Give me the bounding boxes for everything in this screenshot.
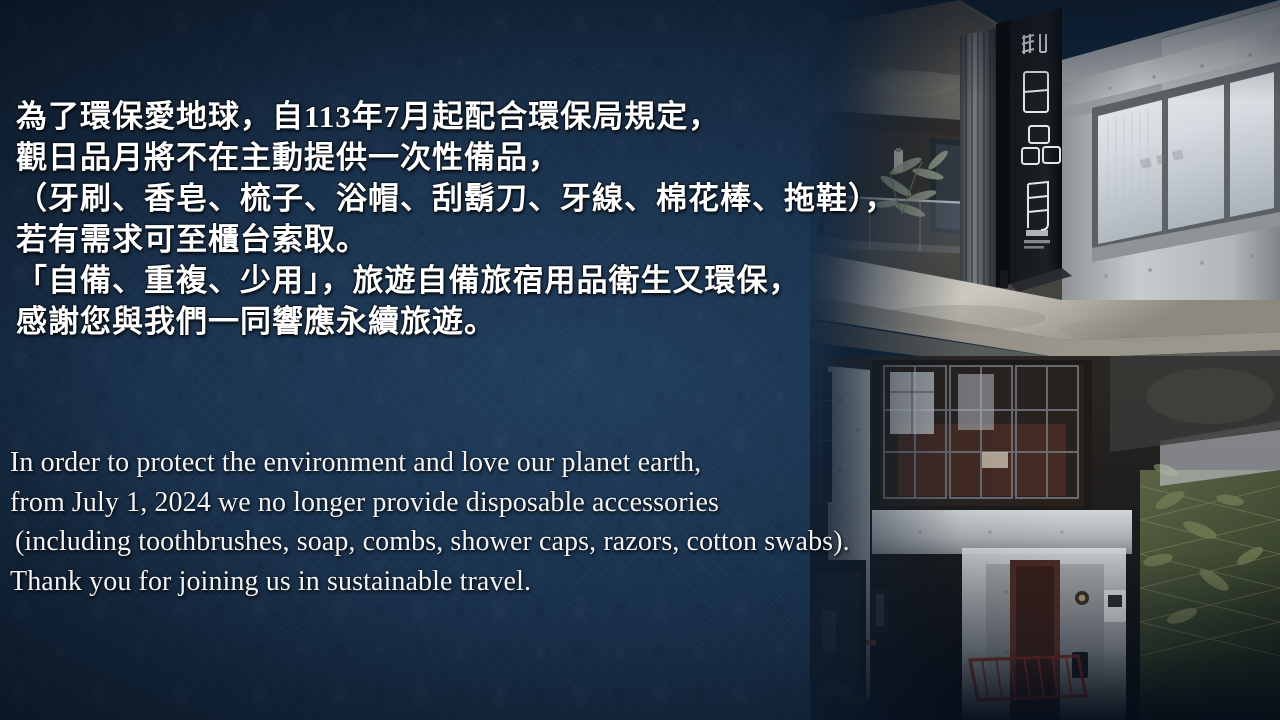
zh-line-3: （牙刷、香皂、梳子、浴帽、刮鬍刀、牙線、棉花棒、拖鞋）， xyxy=(16,178,936,219)
zh-line-1: 為了環保愛地球，自113年7月起配合環保局規定， xyxy=(16,96,936,137)
notice-english: In order to protect the environment and … xyxy=(10,443,990,601)
vertical-signboard xyxy=(996,8,1072,292)
zh-line-5: 「自備、重複、少用」，旅遊自備旅宿用品衛生又環保， xyxy=(16,260,936,301)
zh-line-2: 觀日品月將不在主動提供一次性備品， xyxy=(16,137,936,178)
notice-chinese: 為了環保愛地球，自113年7月起配合環保局規定， 觀日品月將不在主動提供一次性備… xyxy=(16,96,936,342)
en-line-1: In order to protect the environment and … xyxy=(10,443,990,483)
zh-line-4: 若有需求可至櫃台索取。 xyxy=(16,219,936,260)
zh-line-6: 感謝您與我們一同響應永續旅遊。 xyxy=(16,301,936,342)
en-line-3: (including toothbrushes, soap, combs, sh… xyxy=(10,522,990,562)
notice-slide: 為了環保愛地球，自113年7月起配合環保局規定， 觀日品月將不在主動提供一次性備… xyxy=(0,0,1280,720)
louver-column xyxy=(960,28,996,292)
en-line-4: Thank you for joining us in sustainable … xyxy=(10,562,990,602)
en-line-2: from July 1, 2024 we no longer provide d… xyxy=(10,483,990,523)
